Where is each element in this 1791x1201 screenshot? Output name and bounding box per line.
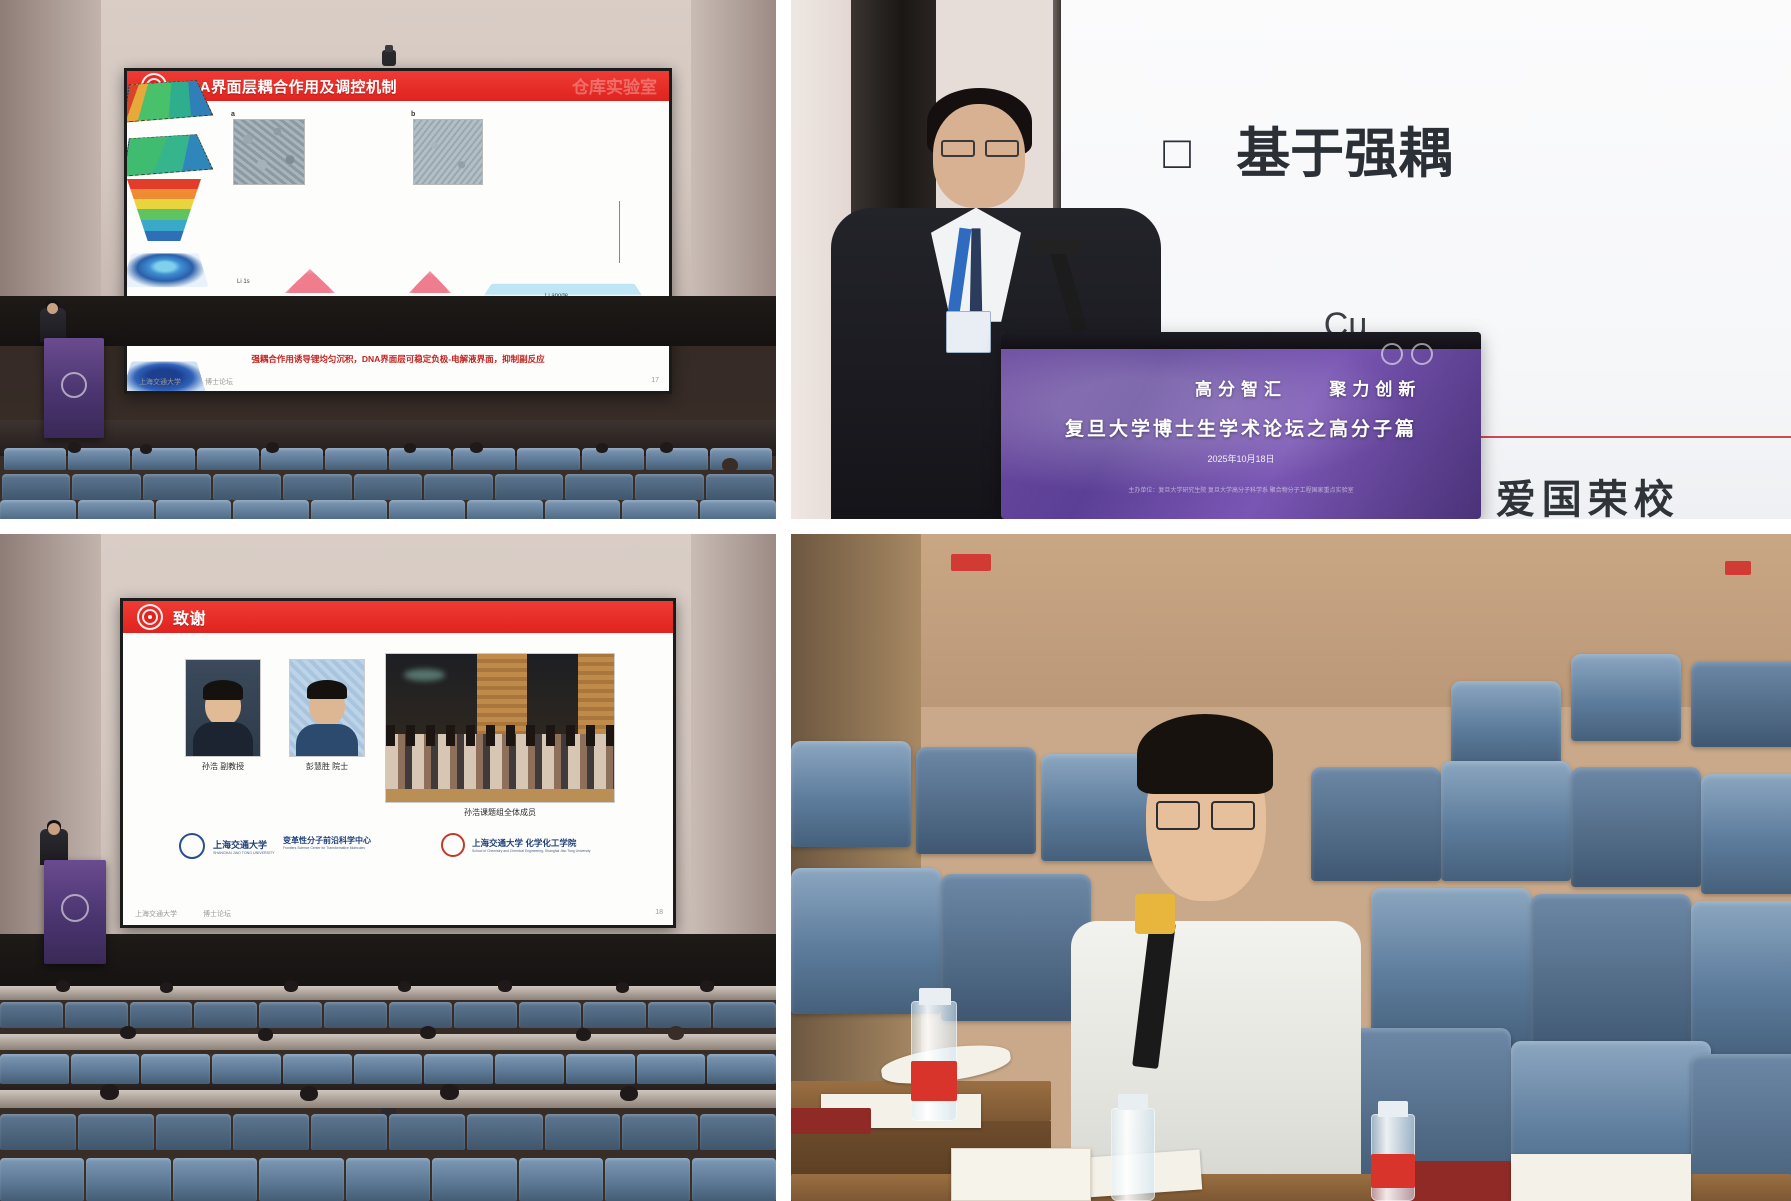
podium-banner: 高分智汇 聚力创新 复旦大学博士生学术论坛之高分子篇 2025年10月18日 主…: [1001, 332, 1481, 519]
portrait-caption-2: 彭慧胜 院士: [289, 761, 365, 772]
fudan-seal-icon: [1381, 343, 1403, 365]
audience-seating: [0, 974, 776, 1201]
water-bottle: [1111, 1108, 1155, 1201]
hall-wall-right: [691, 0, 776, 296]
seat-row: [0, 1054, 776, 1084]
speaker-glasses-right: [985, 140, 1019, 157]
audience-head: [100, 1084, 119, 1100]
seat-row: [0, 1114, 776, 1150]
banner-line-1-right: 聚力创新: [1135, 375, 1481, 400]
audience-head: [398, 981, 411, 992]
banner-line-4: 主办单位：复旦大学研究生院 复旦大学高分子科学系 聚合物分子工程国家重点实验室: [1001, 485, 1481, 494]
banner-line-2: 复旦大学博士生学术论坛之高分子篇: [1001, 414, 1481, 441]
sjtu-seal-icon: [137, 604, 163, 630]
audience-head: [140, 444, 152, 454]
audience-head: [700, 980, 714, 992]
chemistry-school-logo-icon: [441, 833, 465, 857]
group-photo: [385, 653, 615, 803]
panel-lecture-hall-slide-2: 致谢 孙浩 副教授 彭慧胜 院士: [0, 534, 776, 1201]
hall-wall-right: [691, 534, 776, 948]
podium-scene: □ 基于强耦 Cu 饮水思源 爱国荣校: [791, 0, 1791, 519]
audience-head: [284, 980, 298, 992]
audience-head: [56, 980, 70, 992]
sem-image-b: [413, 119, 483, 185]
banner-seals: [1381, 343, 1433, 365]
paper-sheet: [1511, 1154, 1691, 1201]
auditorium-scene-2: 致谢 孙浩 副教授 彭慧胜 院士: [0, 534, 776, 1201]
figure-label-a: a: [231, 111, 235, 118]
audience-head: [300, 1086, 318, 1101]
xps-spectrum-2: [375, 269, 465, 293]
slide-header-watermark: 仓库实验室: [572, 73, 657, 98]
water-bottle-label: [911, 1061, 957, 1101]
audience-head: [440, 1084, 459, 1100]
questioner-hair: [1137, 714, 1273, 794]
microphone-head: [1031, 239, 1081, 255]
seat-row: [0, 474, 776, 500]
red-folder: [791, 1108, 871, 1135]
sjtu-logo-icon: [179, 833, 205, 859]
audience-head: [576, 1028, 591, 1041]
water-bottle-cap: [1118, 1094, 1148, 1110]
logo-fsctm-label: 变革性分子前沿科学中心: [283, 835, 371, 846]
slide-footer-right: 博士论坛: [205, 377, 233, 387]
audience-head: [420, 1026, 436, 1039]
questioner-glasses-right: [1211, 801, 1255, 830]
audience-room-scene: [791, 534, 1791, 1201]
slide-acknowledgements: 致谢 孙浩 副教授 彭慧胜 院士: [123, 601, 673, 925]
slide-bullet-marker: □: [1163, 125, 1191, 179]
slide-header-bar: 致谢: [123, 601, 673, 633]
logo-scce-label: 上海交通大学 化学化工学院: [472, 837, 590, 849]
audience-head: [722, 458, 738, 472]
speaker-badge: [946, 311, 991, 353]
slide-page-number: 18: [655, 909, 663, 916]
3d-density-map-1: [124, 253, 209, 287]
desk-row: [0, 986, 776, 1000]
portrait-caption-1: 孙浩 副教授: [185, 761, 261, 772]
logo-fsctm-sub: Frontiers Science Center for Transformat…: [283, 846, 371, 850]
podium-logo-icon: [61, 372, 87, 398]
podium-logo-icon: [61, 894, 89, 922]
auditorium-scene: DNA界面层耦合作用及调控机制 仓库实验室 a b: [0, 0, 776, 519]
audience-head: [498, 980, 512, 992]
ceiling-camera-icon: [382, 50, 396, 66]
afm-image-a: [124, 80, 213, 123]
logo-fsctm: 变革性分子前沿科学中心 Frontiers Science Center for…: [283, 835, 371, 850]
xps-spectrum-1: [267, 269, 357, 293]
seat-row: [0, 500, 776, 519]
name-card: [951, 1148, 1091, 1201]
group-photo-caption: 孙浩课题组全体成员: [385, 807, 615, 818]
audience-head: [596, 443, 608, 453]
questioner-glasses-left: [1156, 801, 1200, 830]
slide-header-bar: DNA界面层耦合作用及调控机制 仓库实验室: [127, 71, 669, 101]
audience-head: [258, 1028, 273, 1041]
audience-head: [660, 442, 673, 453]
speaker-head: [47, 303, 58, 314]
slide-footer-left: 上海交通大学: [139, 377, 181, 387]
portrait-sun-hao: [185, 659, 261, 757]
slide-footer-right: 博士论坛: [203, 909, 231, 919]
projection-screen: 致谢 孙浩 副教授 彭慧胜 院士: [120, 598, 676, 928]
audience-head: [266, 442, 279, 453]
microphone-foam-cover: [1135, 894, 1175, 934]
figure-label-b: b: [411, 111, 415, 118]
audience-head: [160, 982, 173, 993]
banner-line-3: 2025年10月18日: [1001, 452, 1481, 465]
seat-row: [0, 1002, 776, 1028]
sem-image-a: [233, 119, 305, 185]
slide-footer-left: 上海交通大学: [135, 909, 177, 919]
slide-title: DNA界面层耦合作用及调控机制: [177, 76, 397, 97]
logo-sjtu-label: 上海交通大学: [213, 838, 275, 851]
audience-head: [68, 442, 81, 453]
university-seal-icon: [1411, 343, 1433, 365]
logo-sccе: 上海交通大学 化学化工学院 School of Chemistry and Ch…: [441, 833, 590, 857]
podium: [44, 338, 104, 438]
3d-cone-render: [127, 179, 201, 241]
slide-page-number: 17: [651, 377, 659, 384]
slide-caption: 强耦合作用诱导锂均匀沉积，DNA界面层可稳定负极-电解液界面，抑制副反应: [127, 353, 669, 365]
audience-head: [616, 982, 629, 993]
hall-wall-left: [0, 0, 101, 296]
logo-sjtu: 上海交通大学 SHANGHAI JIAO TONG UNIVERSITY: [179, 833, 275, 859]
audience-head: [620, 1086, 638, 1101]
panel-audience-question: [791, 534, 1791, 1201]
speaker-glasses-left: [941, 140, 975, 157]
photo-collage: DNA界面层耦合作用及调控机制 仓库实验室 a b: [0, 0, 1791, 1201]
water-bottle-label: [1371, 1154, 1415, 1187]
audience-head: [404, 443, 416, 453]
xps-axis-label-li1s: Li 1s: [237, 279, 250, 285]
panel-lecture-hall-slide-1: DNA界面层耦合作用及调控机制 仓库实验室 a b: [0, 0, 776, 519]
slide-title: 致谢: [173, 605, 206, 629]
water-bottle-cap: [1378, 1101, 1408, 1117]
colorbar: [619, 201, 620, 263]
podium: [44, 860, 106, 964]
afm-image-b: [124, 134, 213, 177]
slide-heading: 基于强耦: [1236, 109, 1452, 188]
water-bottle-cap: [919, 988, 951, 1005]
logo-sjtu-sub: SHANGHAI JIAO TONG UNIVERSITY: [213, 851, 275, 855]
logo-scce-sub: School of Chemistry and Chemical Enginee…: [472, 849, 590, 853]
audience-head: [120, 1026, 136, 1039]
speaker-head: [48, 823, 60, 835]
panel-speaker-at-podium: □ 基于强耦 Cu 饮水思源 爱国荣校: [791, 0, 1791, 519]
stage-floor: [0, 296, 776, 346]
audience-seating: [0, 440, 776, 519]
portrait-peng-huisheng: [289, 659, 365, 757]
seat-row: [0, 448, 776, 470]
audience-head: [668, 1026, 684, 1040]
desk-row: [0, 1034, 776, 1050]
audience-head: [470, 442, 483, 453]
seat-row: [0, 1158, 776, 1201]
